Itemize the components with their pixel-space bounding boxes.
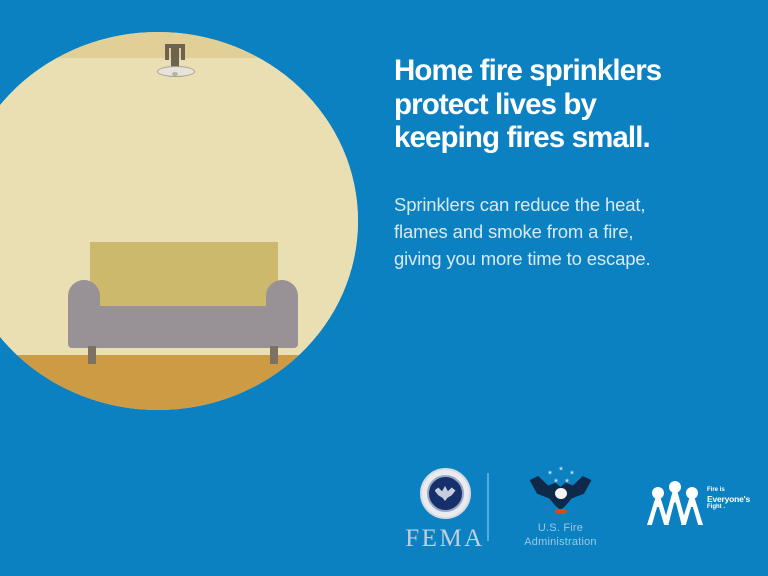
dhs-seal-icon (420, 468, 471, 519)
dhs-seal-inner (427, 475, 464, 512)
logo-bar: FEMA U.S. Fire Administration (385, 465, 755, 560)
usfa-eagle-icon (530, 468, 592, 518)
eagle-star-2 (559, 466, 564, 471)
feef-line-3: Fight . (707, 504, 755, 511)
sprinkler-head-icon (153, 40, 197, 80)
eagle-feet (555, 509, 567, 514)
dhs-eagle-icon (435, 486, 456, 501)
feef-line-2: Everyone's (707, 494, 755, 504)
feef-line-1: Fire is (707, 487, 755, 494)
usfa-wordmark-line-2: Administration (503, 536, 618, 550)
headline-line-2: protect lives by (394, 88, 744, 122)
fire-is-everyones-fight-logo: Fire is Everyone's Fight . (647, 479, 755, 535)
couch-illustration (68, 242, 298, 364)
sprinkler-deflector (172, 72, 178, 76)
couch-arm-right (266, 280, 298, 348)
eagle-star-1 (548, 470, 553, 475)
person-head-left (652, 487, 664, 499)
three-people-icon (647, 481, 703, 525)
poster-canvas: Home fire sprinklers protect lives by ke… (0, 0, 768, 576)
room-illustration (0, 32, 358, 410)
couch-arm-left (68, 280, 100, 348)
usfa-wordmark: U.S. Fire Administration (503, 522, 618, 550)
eagle-star-5 (565, 478, 570, 483)
subheadline-line-2: flames and smoke from a fire, (394, 219, 746, 246)
logo-divider (487, 473, 489, 541)
subheadline-line-1: Sprinklers can reduce the heat, (394, 192, 746, 219)
couch-back-cushion (90, 242, 278, 308)
sprinkler-body (171, 48, 179, 68)
person-figure-center (664, 489, 686, 523)
eagle-star-3 (570, 470, 575, 475)
sprinkler-arm-right (181, 44, 185, 60)
eagle-star-4 (554, 478, 559, 483)
fema-logo: FEMA (390, 468, 500, 558)
headline: Home fire sprinklers protect lives by ke… (394, 54, 744, 155)
headline-line-3: keeping fires small. (394, 121, 744, 155)
usfa-wordmark-line-1: U.S. Fire (503, 522, 618, 536)
person-head-right (686, 487, 698, 499)
couch-leg-right (270, 346, 278, 364)
subheadline-line-3: giving you more time to escape. (394, 246, 746, 273)
couch-frame (80, 306, 288, 348)
sprinkler-arm-left (165, 44, 169, 60)
usfa-logo: U.S. Fire Administration (503, 468, 618, 558)
subheadline: Sprinklers can reduce the heat, flames a… (394, 192, 746, 272)
fire-is-everyones-fight-wordmark: Fire is Everyone's Fight . (707, 487, 755, 511)
person-figure-right (681, 495, 703, 525)
person-head-center (669, 481, 681, 493)
headline-line-1: Home fire sprinklers (394, 54, 744, 88)
couch-leg-left (88, 346, 96, 364)
fema-wordmark: FEMA (390, 526, 500, 551)
eagle-head (555, 488, 567, 499)
